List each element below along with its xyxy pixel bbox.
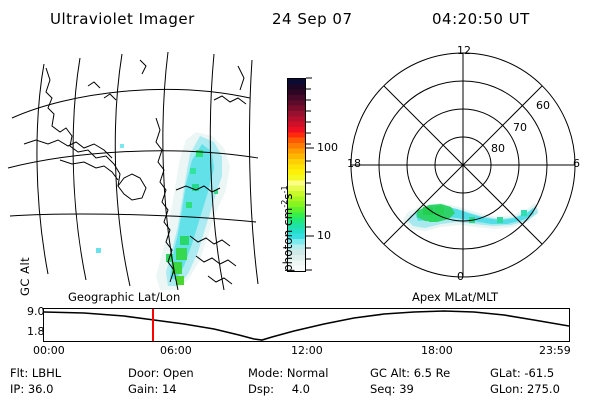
status-ip-value: 36.0 (28, 382, 54, 396)
status-seq: Seq: 39 (370, 382, 414, 396)
status-mode: Mode: Normal (248, 366, 328, 380)
aurora-emission-magnetic (403, 203, 539, 231)
colorbar-axis-title-main: photon cm (281, 208, 295, 272)
altitude-trace (44, 311, 569, 340)
status-gc-alt-value: 6.5 Re (414, 366, 451, 380)
dial-label-mlat-70: 70 (513, 121, 527, 134)
status-glat-value: -61.5 (524, 366, 554, 380)
status-mode-label: Mode: (248, 366, 283, 380)
time-tick-1200: 12:00 (291, 344, 323, 357)
colorbar-axis-exp1: -2 (280, 200, 289, 208)
left-panel-caption: Geographic Lat/Lon (68, 290, 180, 304)
status-door-value: Open (163, 366, 194, 380)
dial-label-mlt-0: 0 (457, 270, 464, 283)
status-dsp-value: 4.0 (292, 382, 310, 396)
status-flt: Flt: LBHL (10, 366, 61, 380)
time-tick-0000: 00:00 (33, 344, 65, 357)
status-ip: IP: 36.0 (10, 382, 53, 396)
instrument-title: Ultraviolet Imager (50, 10, 195, 28)
colorbar-tick-10: 10 (317, 229, 331, 242)
gc-alt-tick-high: 9.0 (27, 305, 45, 318)
status-gc-alt: GC Alt: 6.5 Re (370, 366, 450, 380)
status-seq-label: Seq: (370, 382, 396, 396)
gc-alt-tick-low: 1.8 (27, 325, 45, 338)
status-glat: GLat: -61.5 (490, 366, 554, 380)
status-gain: Gain: 14 (128, 382, 177, 396)
status-glat-label: GLat: (490, 366, 521, 380)
status-gc-alt-label: GC Alt: (370, 366, 410, 380)
status-flt-value: LBHL (32, 366, 61, 380)
observation-date: 24 Sep 07 (272, 10, 352, 28)
status-door-label: Door: (128, 366, 159, 380)
colorbar-tick-100: 100 (317, 141, 338, 154)
right-panel-caption: Apex MLat/MLT (412, 290, 498, 304)
colorbar-axis-exp2: -1 (280, 185, 289, 193)
status-glon-value: 275.0 (527, 382, 560, 396)
colorbar-axis-title-s: s (281, 193, 295, 199)
status-seq-value: 39 (399, 382, 414, 396)
status-ip-label: IP: (10, 382, 24, 396)
status-flt-label: Flt: (10, 366, 28, 380)
polar-dial-panel (345, 45, 585, 290)
time-cursor[interactable] (152, 309, 154, 341)
status-dsp: Dsp: 4.0 (248, 382, 310, 396)
time-tick-2359: 23:59 (539, 344, 571, 357)
colorbar-ticks (306, 76, 316, 276)
dial-spokes (351, 53, 575, 277)
status-glon-label: GLon: (490, 382, 523, 396)
status-gain-value: 14 (162, 382, 177, 396)
time-tick-0600: 06:00 (160, 344, 192, 357)
status-dsp-label: Dsp: (248, 382, 274, 396)
orbit-altitude-plot[interactable] (43, 308, 570, 342)
dial-label-mlt-6: 6 (573, 157, 580, 170)
status-door: Door: Open (128, 366, 194, 380)
dial-label-mlt-18: 18 (347, 157, 361, 170)
status-gain-label: Gain: (128, 382, 158, 396)
observation-time: 04:20:50 UT (432, 10, 530, 28)
time-tick-1800: 18:00 (421, 344, 453, 357)
dial-label-mlat-60: 60 (536, 99, 550, 112)
status-mode-value: Normal (287, 366, 329, 380)
status-glon: GLon: 275.0 (490, 382, 560, 396)
dial-label-mlat-80: 80 (491, 142, 505, 155)
dial-label-mlt-12: 12 (457, 44, 471, 57)
geographic-map-panel (0, 40, 270, 290)
